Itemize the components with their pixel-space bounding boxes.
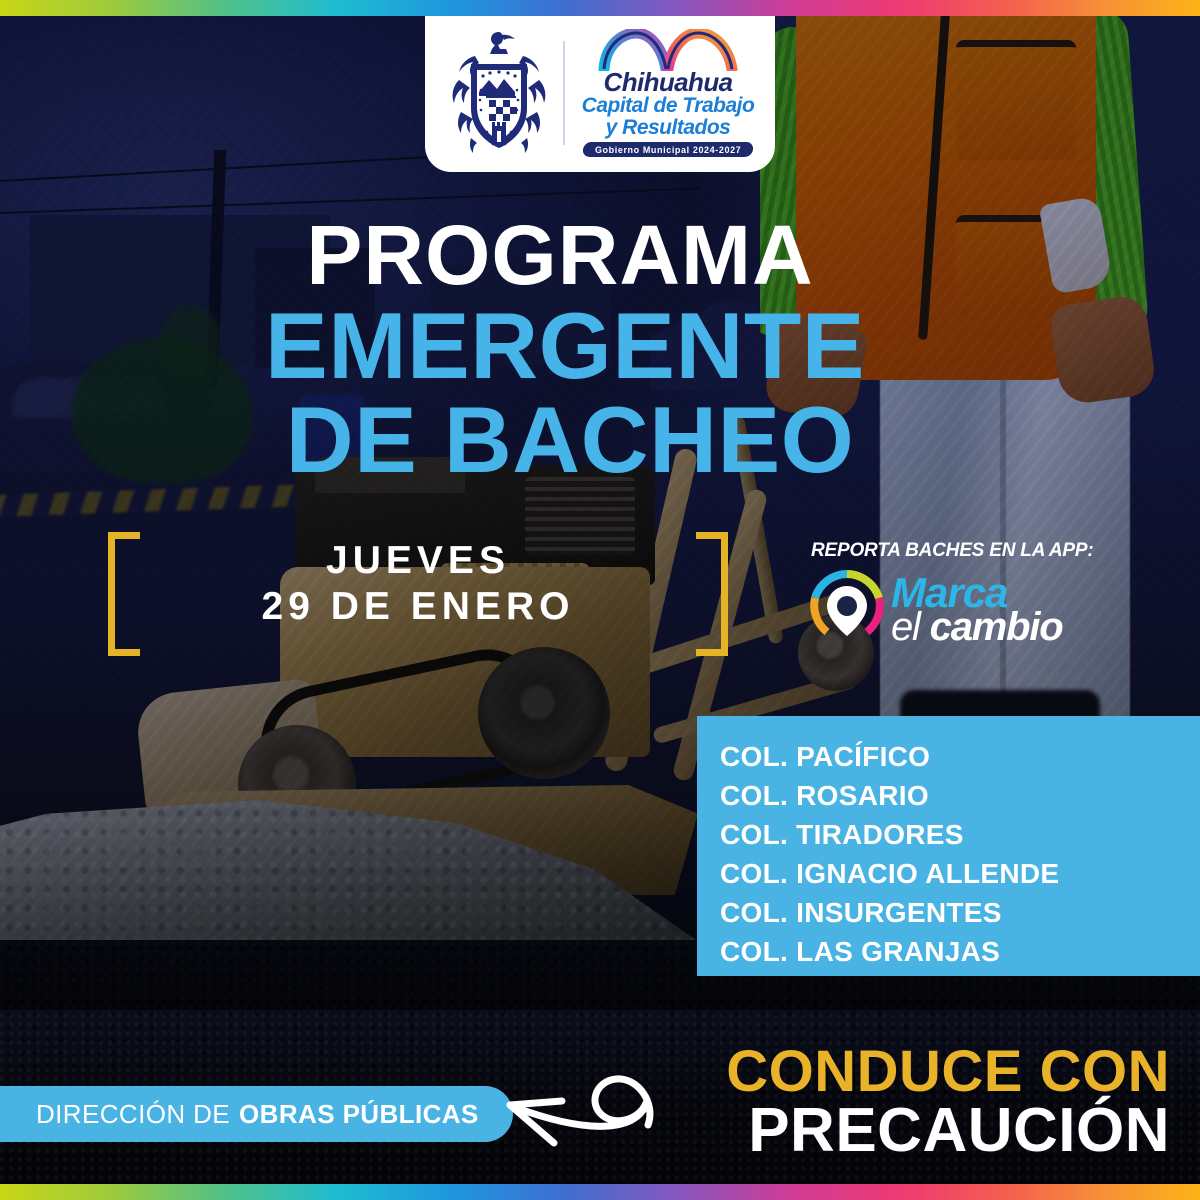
safety-message: CONDUCE CON PRECAUCIÓN: [726, 1043, 1170, 1162]
location-pin-icon[interactable]: [805, 568, 889, 652]
government-logo-card: Chihuahua Capital de Trabajo y Resultado…: [425, 14, 775, 172]
poster-canvas: Chihuahua Capital de Trabajo y Resultado…: [0, 0, 1200, 1200]
tagline-line-1: Capital de Trabajo: [582, 95, 755, 117]
date-day-month: 29 DE ENERO: [108, 584, 728, 630]
chihuahua-wave-icon: [598, 29, 738, 71]
municipal-coat-of-arms-icon: [445, 30, 553, 156]
date-block: JUEVES 29 DE ENERO: [108, 532, 728, 656]
list-item: COL. PACÍFICO: [720, 738, 1200, 777]
safety-line-2: PRECAUCIÓN: [726, 1099, 1170, 1162]
department-name: OBRAS PÚBLICAS: [239, 1099, 479, 1130]
list-item: COL. INSURGENTES: [720, 894, 1200, 933]
app-promo-block: REPORTA BACHES EN LA APP: Marca el cambi…: [805, 540, 1125, 652]
logo-divider: [563, 41, 565, 145]
tagline-line-2: y Resultados: [606, 117, 731, 139]
curly-arrow-icon: [470, 1053, 660, 1158]
list-item: COL. ROSARIO: [720, 777, 1200, 816]
app-promo-label: REPORTA BACHES EN LA APP:: [811, 540, 1125, 562]
date-weekday: JUEVES: [108, 538, 728, 584]
city-name: Chihuahua: [604, 69, 733, 95]
rainbow-strip-top: [0, 0, 1200, 16]
list-item: COL. LAS GRANJAS: [720, 933, 1200, 972]
safety-line-1: CONDUCE CON: [726, 1043, 1170, 1101]
department-prefix: DIRECCIÓN DE: [36, 1099, 230, 1130]
list-item: COL. IGNACIO ALLENDE: [720, 855, 1200, 894]
rainbow-strip-bottom: [0, 1184, 1200, 1200]
government-period-badge: Gobierno Municipal 2024-2027: [582, 142, 754, 157]
app-name-secondary: el cambio: [891, 611, 1063, 644]
department-badge: DIRECCIÓN DE OBRAS PÚBLICAS: [0, 1086, 513, 1142]
list-item: COL. TIRADORES: [720, 816, 1200, 855]
colonias-list-panel: COL. PACÍFICO COL. ROSARIO COL. TIRADORE…: [697, 716, 1200, 976]
